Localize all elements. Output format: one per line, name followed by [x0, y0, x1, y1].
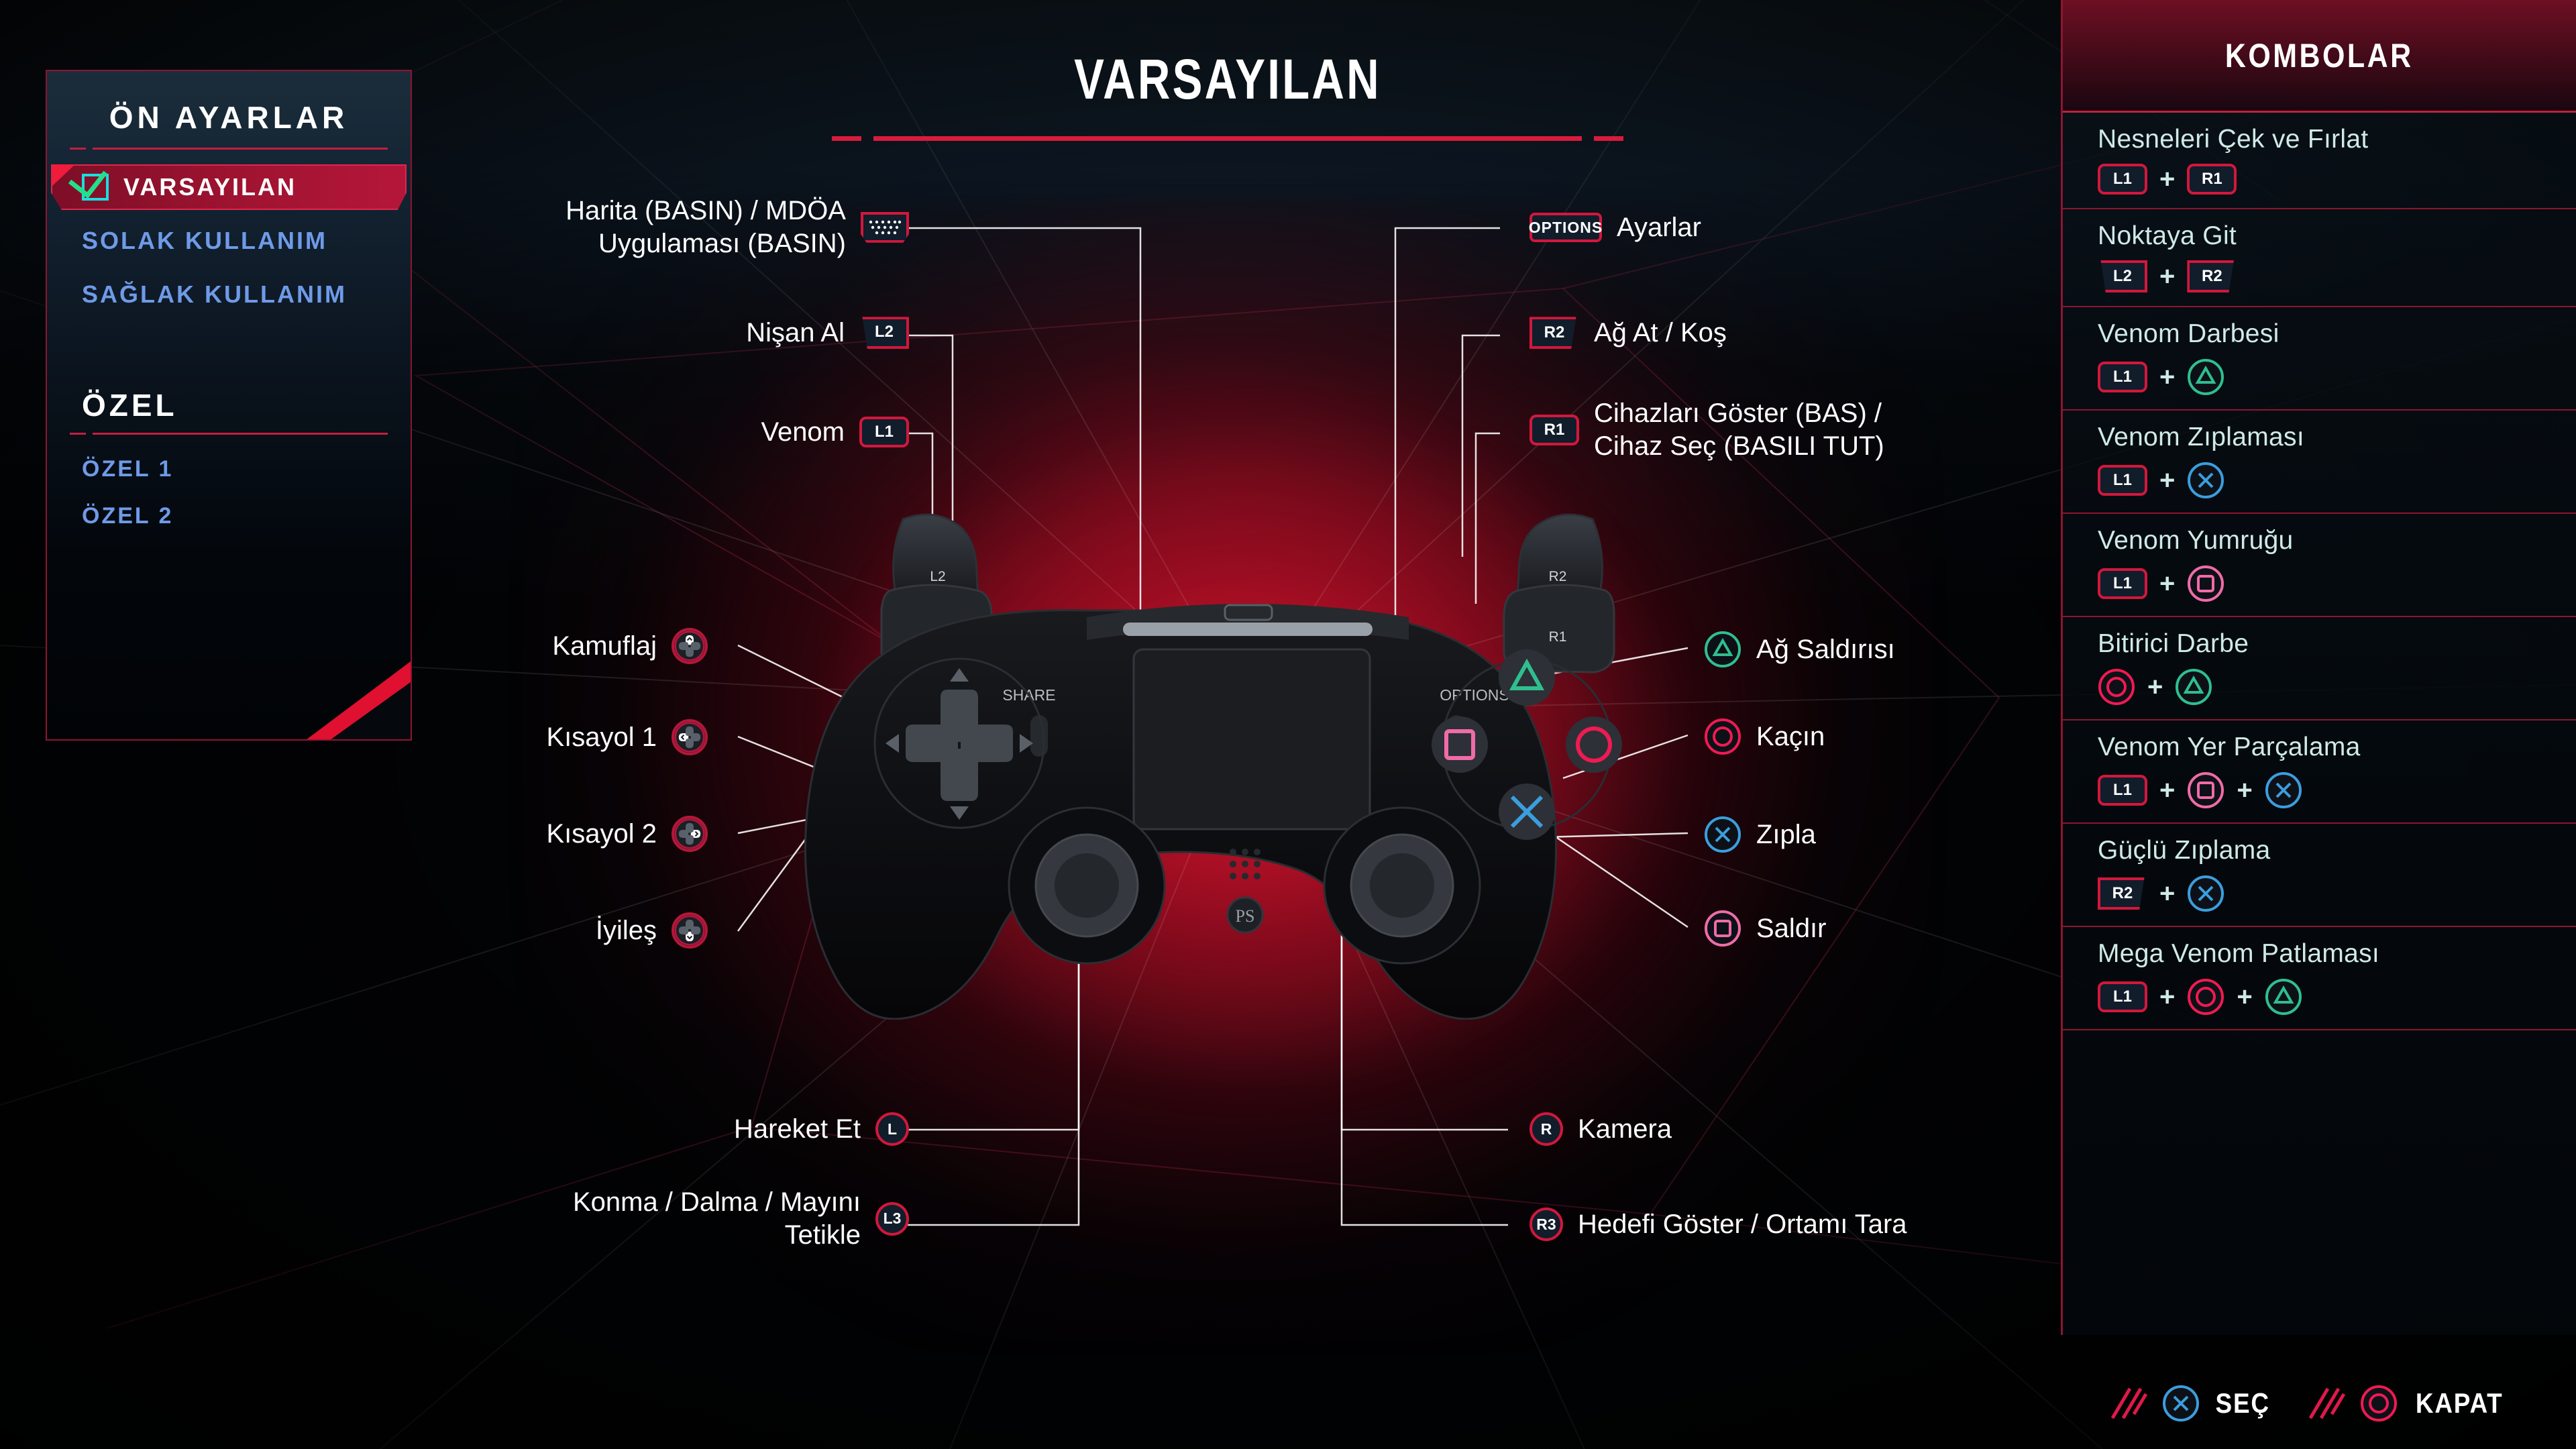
sidebar-item-label: ÖZEL 2	[82, 503, 173, 529]
plus-separator-icon: +	[2159, 983, 2175, 1010]
combo-name: Venom Zıplaması	[2098, 423, 2576, 452]
plus-separator-icon: +	[2159, 364, 2175, 390]
prompt-close[interactable]: KAPAT	[2305, 1383, 2509, 1424]
plus-separator-icon: +	[2237, 777, 2252, 804]
combo-row: Bitirici Darbe+	[2063, 617, 2576, 720]
callout-camouflage: Kamuflaj	[429, 628, 708, 664]
r1-button-icon: R1	[2187, 164, 2237, 195]
callout-label: Hareket Et	[734, 1113, 861, 1146]
custom-section-title: ÖZEL	[82, 387, 411, 423]
callout-label: Nişan Al	[746, 317, 845, 350]
touchpad-icon	[861, 212, 909, 243]
plus-separator-icon: +	[2159, 570, 2175, 597]
combos-header: KOMBOLAR	[2063, 0, 2576, 113]
callout-label: Konma / Dalma / Mayını Tetikle	[573, 1186, 861, 1252]
prompt-label: SEÇ	[2216, 1387, 2270, 1419]
callout-crouch: Konma / Dalma / Mayını Tetikle L3	[429, 1186, 909, 1252]
plus-separator-icon: +	[2159, 166, 2175, 193]
combo-row: Venom YumruğuL1+	[2063, 514, 2576, 617]
dpad-down-icon	[672, 912, 708, 949]
circle-button-icon	[1704, 718, 1741, 755]
callout-camera: R Kamera	[1529, 1112, 1672, 1146]
circle-button-icon	[2098, 668, 2135, 706]
cross-button-icon	[2162, 1385, 2200, 1422]
callout-label: Kamera	[1578, 1113, 1672, 1146]
combo-name: Bitirici Darbe	[2098, 629, 2576, 659]
custom-list: ÖZEL 1 ÖZEL 2	[47, 445, 411, 539]
page-title: VARSAYILAN	[879, 47, 1576, 112]
callout-heal: İyileş	[429, 912, 708, 949]
circle-button-icon	[2360, 1385, 2398, 1422]
cross-button-icon	[2187, 462, 2224, 499]
right-stick-label: R	[1541, 1120, 1552, 1138]
callout-web-attack: Ağ Saldırısı	[1704, 631, 1895, 668]
dpad-up-icon	[672, 628, 708, 664]
combo-row: Nesneleri Çek ve FırlatL1+R1	[2063, 113, 2576, 209]
sidebar-item-ozel-1[interactable]: ÖZEL 1	[47, 445, 411, 492]
cross-button-icon	[2265, 771, 2302, 809]
square-button	[1432, 716, 1488, 773]
combos-title: KOMBOLAR	[2225, 36, 2414, 75]
callout-label: İyileş	[596, 914, 657, 947]
combo-keys: L1+R1	[2098, 164, 2576, 195]
combo-keys: L1+	[2098, 462, 2576, 499]
callout-shortcut-1: Kısayol 1	[429, 719, 708, 755]
callout-label: Hedefi Göster / Ortamı Tara	[1578, 1208, 1907, 1241]
l3-button-icon: L3	[875, 1202, 909, 1236]
l2-button-icon: L2	[859, 317, 909, 349]
dualshock-controller-diagram: L2 L1 R2 R1 SHARE OPTIONS	[771, 510, 1724, 1020]
light-bar	[1123, 623, 1373, 636]
l1-button-icon: L1	[2098, 568, 2147, 599]
r2-button-icon: R2	[1529, 317, 1579, 349]
circle-button-icon	[2187, 978, 2224, 1016]
l2-label: L2	[875, 323, 894, 341]
callout-label: Kısayol 2	[546, 818, 657, 851]
slash-decoration-icon	[2305, 1383, 2348, 1424]
combos-panel: KOMBOLAR Nesneleri Çek ve FırlatL1+R1Nok…	[2061, 0, 2576, 1335]
callout-label: Cihazları Göster (BAS) / Cihaz Seç (BASI…	[1594, 397, 1884, 463]
sidebar-item-label: VARSAYILAN	[123, 173, 297, 201]
triangle-button-icon	[2175, 668, 2212, 706]
plus-separator-icon: +	[2159, 777, 2175, 804]
combo-keys: L1+	[2098, 565, 2576, 602]
cross-button-icon	[1704, 816, 1741, 853]
sidebar-item-solak-kullanim[interactable]: SOLAK KULLANIM	[47, 214, 411, 268]
plus-separator-icon: +	[2159, 467, 2175, 494]
combo-row: Noktaya GitL2+R2	[2063, 209, 2576, 307]
l1-label: L1	[875, 423, 894, 441]
callout-label: Kaçın	[1756, 720, 1825, 753]
sidebar-item-saglak-kullanim[interactable]: SAĞLAK KULLANIM	[47, 268, 411, 321]
circle-button	[1566, 716, 1622, 773]
combo-keys: L1+	[2098, 358, 2576, 396]
right-stick-icon: R	[1529, 1112, 1563, 1146]
combo-name: Venom Yumruğu	[2098, 526, 2576, 555]
combos-corner-decoration	[2061, 1275, 2121, 1335]
plus-separator-icon: +	[2159, 880, 2175, 907]
sidebar-item-varsayilan[interactable]: VARSAYILAN	[47, 160, 411, 214]
svg-text:PS: PS	[1236, 906, 1255, 926]
prompt-label: KAPAT	[2415, 1387, 2503, 1419]
sidebar-item-label: SOLAK KULLANIM	[82, 227, 327, 255]
combo-row: Mega Venom PatlamasıL1++	[2063, 927, 2576, 1030]
callout-aim: Nişan Al L2	[429, 317, 909, 350]
triangle-button	[1499, 649, 1555, 706]
svg-text:L2: L2	[930, 569, 945, 584]
touchpad	[1134, 649, 1370, 829]
prompt-select[interactable]: SEÇ	[2107, 1383, 2273, 1424]
l1-button-icon: L1	[2098, 164, 2147, 195]
left-stick	[1009, 808, 1165, 963]
l1-button-icon: L1	[2098, 775, 2147, 806]
dpad-right-icon	[672, 816, 708, 852]
callout-gadgets: R1 Cihazları Göster (BAS) / Cihaz Seç (B…	[1529, 397, 1884, 463]
callout-label: Ağ Saldırısı	[1756, 633, 1895, 666]
r2-button-icon: R2	[2098, 877, 2147, 910]
r2-label: R2	[1544, 323, 1565, 342]
right-triggers: R2 R1	[1504, 515, 1614, 672]
callout-label: Kamuflaj	[552, 630, 657, 663]
callout-label: Zıpla	[1756, 818, 1816, 851]
combo-name: Nesneleri Çek ve Fırlat	[2098, 125, 2576, 154]
options-label: OPTIONS	[1529, 219, 1603, 237]
left-stick-label: L	[888, 1120, 897, 1138]
combo-name: Noktaya Git	[2098, 221, 2576, 251]
cross-button-icon	[2187, 875, 2224, 912]
callout-shortcut-2: Kısayol 2	[429, 816, 708, 852]
r3-button-icon: R3	[1529, 1207, 1563, 1241]
callout-label: Ayarlar	[1617, 211, 1701, 244]
callout-label: Harita (BASIN) / MDÖA Uygulaması (BASIN)	[566, 195, 846, 260]
plus-separator-icon: +	[2147, 674, 2163, 700]
custom-divider	[70, 433, 388, 435]
triangle-button-icon	[2265, 978, 2302, 1016]
footer-prompts: SEÇ KAPAT	[2107, 1383, 2509, 1424]
callout-label: Saldır	[1756, 912, 1827, 945]
r1-label: R1	[1544, 421, 1565, 439]
combo-keys: R2+	[2098, 875, 2576, 912]
slash-decoration-icon	[2107, 1383, 2150, 1424]
presets-divider	[70, 148, 388, 150]
callout-web-swing: R2 Ağ At / Koş	[1529, 317, 1727, 350]
right-stick	[1324, 808, 1480, 963]
combo-row: Venom DarbesiL1+	[2063, 307, 2576, 411]
sidebar-item-ozel-2[interactable]: ÖZEL 2	[47, 492, 411, 539]
l1-button-icon: L1	[2098, 465, 2147, 496]
plus-separator-icon: +	[2237, 983, 2252, 1010]
square-button-icon	[2187, 565, 2224, 602]
triangle-button-icon	[2187, 358, 2224, 396]
l2-button-icon: L2	[2098, 260, 2147, 292]
svg-text:R1: R1	[1549, 629, 1567, 645]
combo-name: Güçlü Zıplama	[2098, 836, 2576, 865]
callout-label: Ağ At / Koş	[1594, 317, 1727, 350]
options-button-icon: OPTIONS	[1529, 213, 1602, 242]
left-stick-icon: L	[875, 1112, 909, 1146]
combo-row: Venom Yer ParçalamaL1++	[2063, 720, 2576, 824]
callout-label: Kısayol 1	[546, 721, 657, 754]
presets-list: VARSAYILAN SOLAK KULLANIM SAĞLAK KULLANI…	[47, 160, 411, 321]
l1-button-icon: L1	[2098, 362, 2147, 392]
r3-label: R3	[1536, 1216, 1556, 1234]
callout-touchpad: Harita (BASIN) / MDÖA Uygulaması (BASIN)	[429, 195, 909, 260]
square-button-icon	[2187, 771, 2224, 809]
combo-row: Güçlü ZıplamaR2+	[2063, 824, 2576, 927]
combo-name: Mega Venom Patlaması	[2098, 939, 2576, 969]
combo-row: Venom ZıplamasıL1+	[2063, 411, 2576, 514]
callout-label: Venom	[761, 416, 845, 449]
sidebar-item-label: ÖZEL 1	[82, 456, 173, 482]
r2-button-icon: R2	[2187, 260, 2237, 292]
callout-settings: OPTIONS Ayarlar	[1529, 211, 1701, 244]
combo-keys: L2+R2	[2098, 260, 2576, 292]
combo-name: Venom Darbesi	[2098, 319, 2576, 349]
r1-button-icon: R1	[1529, 415, 1579, 445]
combo-name: Venom Yer Parçalama	[2098, 733, 2576, 762]
page-title-underline	[792, 136, 1664, 141]
l1-button-icon: L1	[859, 417, 909, 447]
presets-title: ÖN AYARLAR	[47, 99, 411, 136]
triangle-button-icon	[1704, 631, 1741, 668]
callout-move: Hareket Et L	[429, 1112, 909, 1146]
combo-keys: L1++	[2098, 771, 2576, 809]
combo-keys: +	[2098, 668, 2576, 706]
plus-separator-icon: +	[2159, 263, 2175, 290]
callout-attack: Saldır	[1704, 910, 1827, 947]
presets-sidebar: ÖN AYARLAR VARSAYILAN SOLAK KULLANIM SAĞ…	[46, 70, 412, 741]
callout-scan: R3 Hedefi Göster / Ortamı Tara	[1529, 1207, 1907, 1241]
page-title-block: VARSAYILAN	[792, 47, 1664, 141]
speaker-grill	[1230, 849, 1260, 879]
callout-dodge: Kaçın	[1704, 718, 1825, 755]
sidebar-item-label: SAĞLAK KULLANIM	[82, 280, 347, 309]
combos-list: Nesneleri Çek ve FırlatL1+R1Noktaya GitL…	[2063, 113, 2576, 1030]
checkbox-checked-icon	[82, 174, 109, 201]
share-button	[1030, 715, 1048, 757]
options-label: OPTIONS	[1440, 686, 1509, 704]
l1-button-icon: L1	[2098, 981, 2147, 1012]
svg-text:R2: R2	[1549, 569, 1567, 584]
callout-jump: Zıpla	[1704, 816, 1816, 853]
dpad-left-icon	[672, 719, 708, 755]
combo-keys: L1++	[2098, 978, 2576, 1016]
callout-venom: Venom L1	[429, 416, 909, 449]
l3-label: L3	[883, 1210, 902, 1228]
square-button-icon	[1704, 910, 1741, 947]
